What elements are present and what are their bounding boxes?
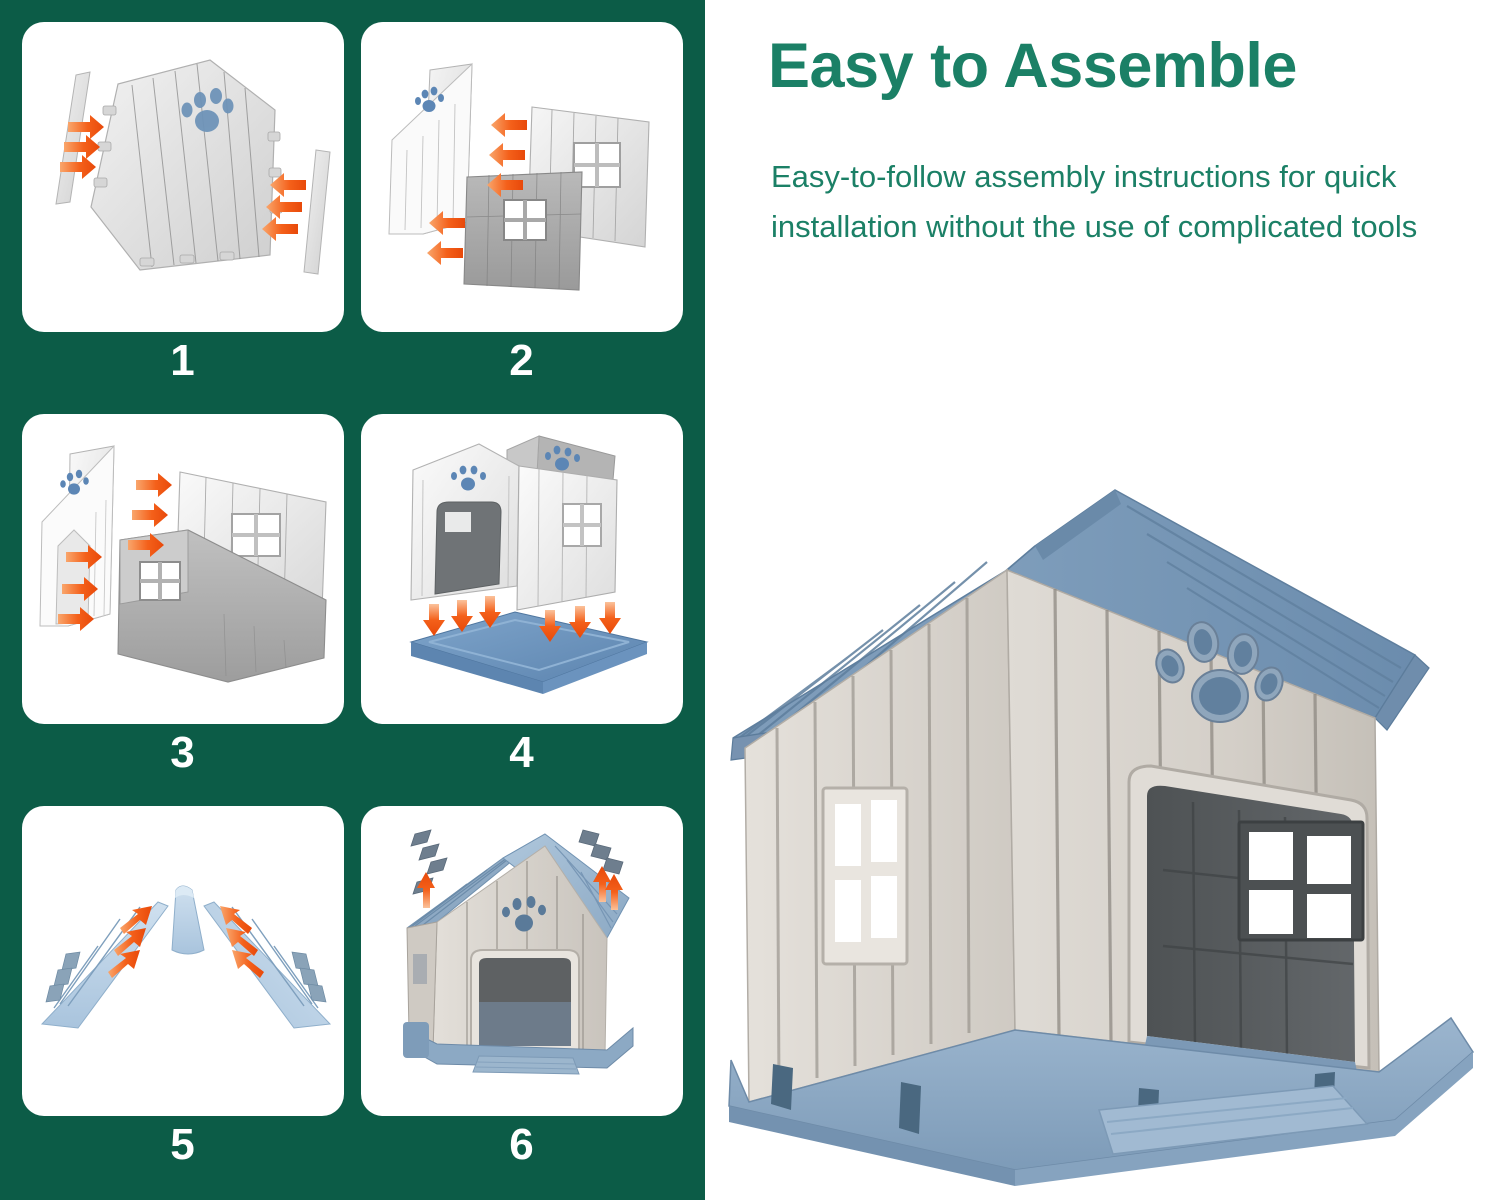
assembly-arrows-left — [60, 115, 104, 179]
window — [563, 504, 601, 546]
assembly-steps-panel: 1 — [0, 0, 705, 1200]
step-5-diagram — [22, 806, 344, 1116]
assembly-steps-grid: 1 — [22, 22, 683, 1178]
step-6-number: 6 — [361, 1116, 683, 1178]
left-roof-panel — [42, 902, 168, 1028]
assembly-step-2: 2 — [361, 22, 683, 394]
doorway — [1129, 766, 1369, 1090]
front-wall-with-doorway — [40, 446, 114, 626]
step-3-diagram — [22, 414, 344, 724]
step-3-illustration-card — [22, 414, 344, 724]
front-gable-panel — [91, 60, 282, 270]
page-title: Easy to Assemble — [768, 32, 1468, 100]
assembly-step-5: 5 — [22, 806, 344, 1178]
step-2-illustration-card — [361, 22, 683, 332]
side-window — [823, 788, 907, 964]
step-5-number: 5 — [22, 1116, 344, 1178]
assembly-step-3: 3 — [22, 414, 344, 786]
front-wall — [411, 444, 519, 600]
interior-window — [1239, 822, 1363, 940]
step-6-diagram — [361, 806, 683, 1116]
right-content-area: Easy to Assemble Easy-to-follow assembly… — [705, 0, 1500, 1200]
left-trim-strip — [56, 72, 90, 204]
right-side-wall — [517, 466, 617, 610]
ridge-cap — [172, 886, 204, 954]
step-2-number: 2 — [361, 332, 683, 394]
step-1-illustration-card — [22, 22, 344, 332]
page-subtitle: Easy-to-follow assembly instructions for… — [771, 152, 1471, 252]
window — [140, 562, 180, 600]
right-roof-panel — [204, 902, 330, 1028]
step-1-number: 1 — [22, 332, 344, 394]
assembly-step-6: 6 — [361, 806, 683, 1178]
assembly-step-4: 4 — [361, 414, 683, 786]
window — [504, 200, 546, 240]
front-gable-wall — [389, 64, 472, 234]
window — [232, 514, 280, 556]
step-4-diagram — [361, 414, 683, 724]
infographic-page: 1 — [0, 0, 1500, 1200]
step-3-number: 3 — [22, 724, 344, 786]
step-1-diagram — [22, 22, 344, 332]
step-4-number: 4 — [361, 724, 683, 786]
dog-house-illustration — [715, 470, 1500, 1190]
step-5-illustration-card — [22, 806, 344, 1116]
step-2-diagram — [361, 22, 683, 332]
assembly-step-1: 1 — [22, 22, 344, 394]
step-4-illustration-card — [361, 414, 683, 724]
right-trim-strip — [304, 150, 330, 274]
product-hero-image — [715, 470, 1500, 1190]
step-6-illustration-card — [361, 806, 683, 1116]
